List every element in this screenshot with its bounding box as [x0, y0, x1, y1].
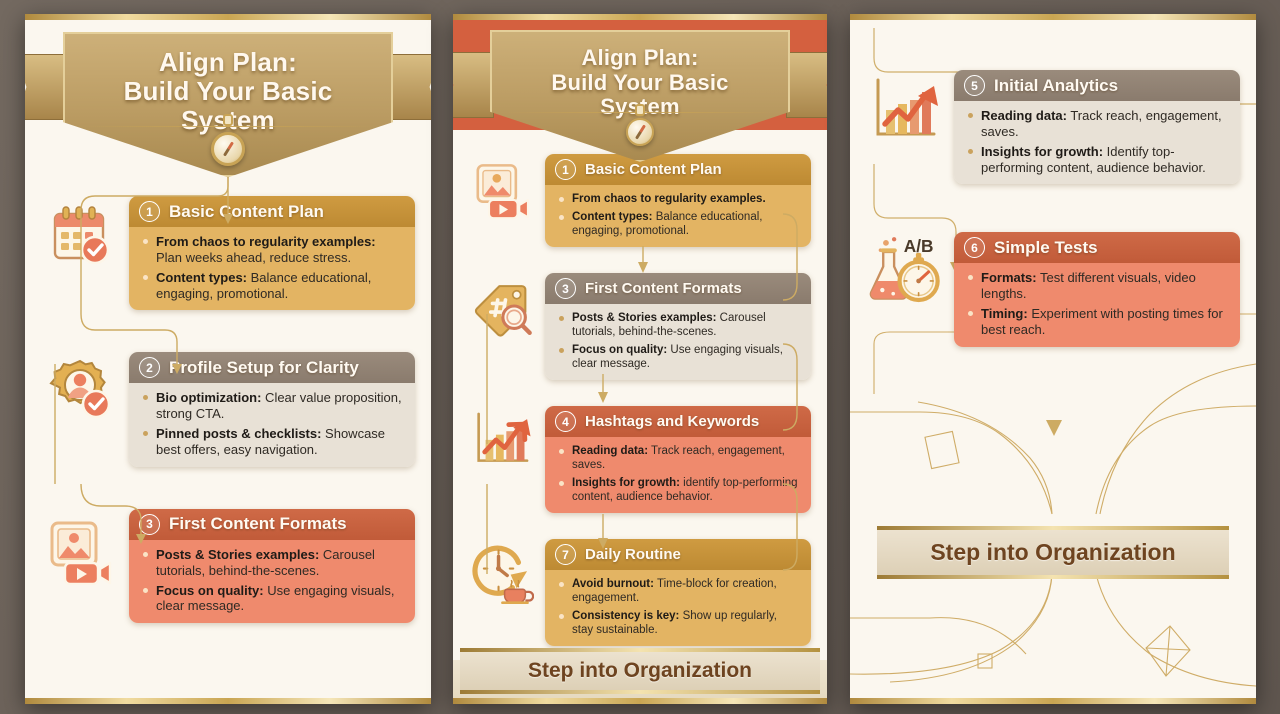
- step-bullet: Reading data: Track reach, engagement, s…: [968, 108, 1228, 140]
- header-zone-panel-1: Align Plan: Build Your Basic System: [25, 14, 431, 164]
- step-number-badge: 6: [964, 237, 985, 258]
- step-card-header: 3 First Content Formats: [129, 509, 415, 540]
- step-number-badge: 1: [555, 159, 576, 180]
- compass-ring: [223, 114, 233, 126]
- step-card-body: Avoid burnout: Time-block for creation, …: [545, 570, 811, 646]
- step-row: 3 First Content Formats Posts & Stories …: [41, 509, 415, 623]
- steps-list-panel-3: 5 Initial Analytics Reading data: Track …: [850, 14, 1256, 347]
- clock-coffee-icon: [469, 539, 535, 605]
- step-card-body: Bio optimization: Clear value propositio…: [129, 383, 415, 466]
- step-title: Initial Analytics: [994, 76, 1118, 96]
- step-bullet: From chaos to regularity examples.: [559, 192, 799, 206]
- ribbon-tail-left: [453, 52, 494, 118]
- step-card[interactable]: 1 Basic Content Plan From chaos to regul…: [545, 154, 811, 247]
- step-title: Profile Setup for Clarity: [169, 358, 359, 378]
- step-card-body: Posts & Stories examples: Carousel tutor…: [545, 304, 811, 380]
- step-bullet: Consistency is key: Show up regularly, s…: [559, 609, 799, 637]
- step-title: Basic Content Plan: [585, 161, 722, 178]
- step-bullet: Insights for growth: Identify top-perfor…: [968, 144, 1228, 176]
- step-row: 7 Daily Routine Avoid burnout: Time-bloc…: [469, 539, 811, 646]
- hashtag-tag-search-icon: [469, 273, 535, 339]
- compass-ring: [635, 104, 645, 116]
- step-row: 4 Hashtags and Keywords Reading data: Tr…: [469, 406, 811, 513]
- step-bullet: From chaos to regularity examples: Plan …: [143, 234, 403, 266]
- step-card-body: Reading data: Track reach, engagement, s…: [954, 101, 1240, 184]
- step-title: First Content Formats: [169, 514, 347, 534]
- footer-plaque: Step into Organization: [460, 648, 820, 694]
- step-number-badge: 5: [964, 75, 985, 96]
- step-row: 2 Profile Setup for Clarity Bio optimiza…: [41, 352, 415, 466]
- compass-icon: [211, 132, 245, 166]
- step-card-body: From chaos to regularity examples: Plan …: [129, 227, 415, 310]
- step-bullet: Pinned posts & checklists: Showcase best…: [143, 426, 403, 458]
- panel-center: Align Plan: Build Your Basic System: [453, 14, 827, 704]
- step-bullet: Reading data: Track reach, engagement, s…: [559, 444, 799, 472]
- growth-chart-icon: [866, 70, 944, 148]
- step-number-badge: 3: [555, 278, 576, 299]
- footer-plaque-label: Step into Organization: [930, 539, 1175, 565]
- step-bullet: Focus on quality: Use engaging visuals, …: [559, 343, 799, 371]
- step-card[interactable]: 5 Initial Analytics Reading data: Track …: [954, 70, 1240, 184]
- step-card[interactable]: 7 Daily Routine Avoid burnout: Time-bloc…: [545, 539, 811, 646]
- ribbon-tail-right: [389, 54, 431, 120]
- step-card[interactable]: 4 Hashtags and Keywords Reading data: Tr…: [545, 406, 811, 513]
- title-line-1: Align Plan:: [581, 45, 698, 70]
- step-card-header: 2 Profile Setup for Clarity: [129, 352, 415, 383]
- step-card-header: 6 Simple Tests: [954, 232, 1240, 263]
- step-row: 3 First Content Formats Posts & Stories …: [469, 273, 811, 380]
- step-bullet: Focus on quality: Use engaging visuals, …: [143, 583, 403, 615]
- step-row: A/B 6 Simple Test: [866, 232, 1240, 346]
- step-title: Simple Tests: [994, 238, 1098, 258]
- step-card[interactable]: 3 First Content Formats Posts & Stories …: [129, 509, 415, 623]
- step-bullet: Content types: Balance educational, enga…: [559, 210, 799, 238]
- step-bullet: Timing: Experiment with posting times fo…: [968, 306, 1228, 338]
- panel-left: Align Plan: Build Your Basic System: [25, 14, 431, 704]
- step-number-badge: 3: [139, 514, 160, 535]
- step-card-header: 7 Daily Routine: [545, 539, 811, 570]
- step-bullet: Posts & Stories examples: Carousel tutor…: [143, 547, 403, 579]
- image-video-icon: [469, 154, 535, 220]
- step-number-badge: 2: [139, 357, 160, 378]
- step-card[interactable]: 3 First Content Formats Posts & Stories …: [545, 273, 811, 380]
- step-number-badge: 1: [139, 201, 160, 222]
- calendar-check-icon: [41, 196, 119, 274]
- step-card-header: 3 First Content Formats: [545, 273, 811, 304]
- step-card-body: Reading data: Track reach, engagement, s…: [545, 437, 811, 513]
- step-number-badge: 4: [555, 411, 576, 432]
- step-bullet: Bio optimization: Clear value propositio…: [143, 390, 403, 422]
- step-row: 1 Basic Content Plan From chaos to regul…: [469, 154, 811, 247]
- step-title: First Content Formats: [585, 280, 742, 297]
- growth-chart-icon: [469, 406, 535, 472]
- step-card[interactable]: 1 Basic Content Plan From chaos to regul…: [129, 196, 415, 310]
- step-bullet: Insights for growth: identify top-perfor…: [559, 476, 799, 504]
- step-bullet: Content types: Balance educational, enga…: [143, 270, 403, 302]
- ribbon-tail-left: [25, 54, 67, 120]
- step-title: Hashtags and Keywords: [585, 413, 759, 430]
- step-number-badge: 7: [555, 544, 576, 565]
- image-video-icon: [41, 509, 119, 587]
- poster-canvas: Align Plan: Build Your Basic System: [0, 0, 1280, 714]
- step-card-body: From chaos to regularity examples. Conte…: [545, 185, 811, 247]
- step-card-body: Posts & Stories examples: Carousel tutor…: [129, 540, 415, 623]
- header-divider-line: [82, 126, 374, 127]
- gear-user-check-icon: [41, 352, 119, 430]
- step-title: Basic Content Plan: [169, 202, 324, 222]
- footer-plaque-label: Step into Organization: [528, 659, 752, 682]
- step-bullet: Posts & Stories examples: Carousel tutor…: [559, 311, 799, 339]
- title-line-1: Align Plan:: [159, 47, 297, 77]
- step-card-header: 1 Basic Content Plan: [129, 196, 415, 227]
- ribbon-tail-right: [786, 52, 827, 118]
- step-title: Daily Routine: [585, 546, 681, 563]
- step-card-body: Formats: Test different visuals, video l…: [954, 263, 1240, 346]
- step-row: 1 Basic Content Plan From chaos to regul…: [41, 196, 415, 310]
- steps-list-panel-2: 1 Basic Content Plan From chaos to regul…: [453, 130, 827, 646]
- ab-flask-stopwatch-icon: A/B: [866, 232, 944, 310]
- header-zone-panel-2: Align Plan: Build Your Basic System: [453, 14, 827, 130]
- step-card[interactable]: 2 Profile Setup for Clarity Bio optimiza…: [129, 352, 415, 466]
- step-card-header: 4 Hashtags and Keywords: [545, 406, 811, 437]
- step-card-header: 5 Initial Analytics: [954, 70, 1240, 101]
- footer-plaque: Step into Organization: [877, 526, 1229, 579]
- step-bullet: Formats: Test different visuals, video l…: [968, 270, 1228, 302]
- panel-right: 5 Initial Analytics Reading data: Track …: [850, 14, 1256, 704]
- steps-list-panel-1: 1 Basic Content Plan From chaos to regul…: [25, 164, 431, 623]
- step-bullet: Avoid burnout: Time-block for creation, …: [559, 577, 799, 605]
- compass-icon: [626, 118, 654, 146]
- step-row: 5 Initial Analytics Reading data: Track …: [866, 70, 1240, 184]
- step-card[interactable]: 6 Simple Tests Formats: Test different v…: [954, 232, 1240, 346]
